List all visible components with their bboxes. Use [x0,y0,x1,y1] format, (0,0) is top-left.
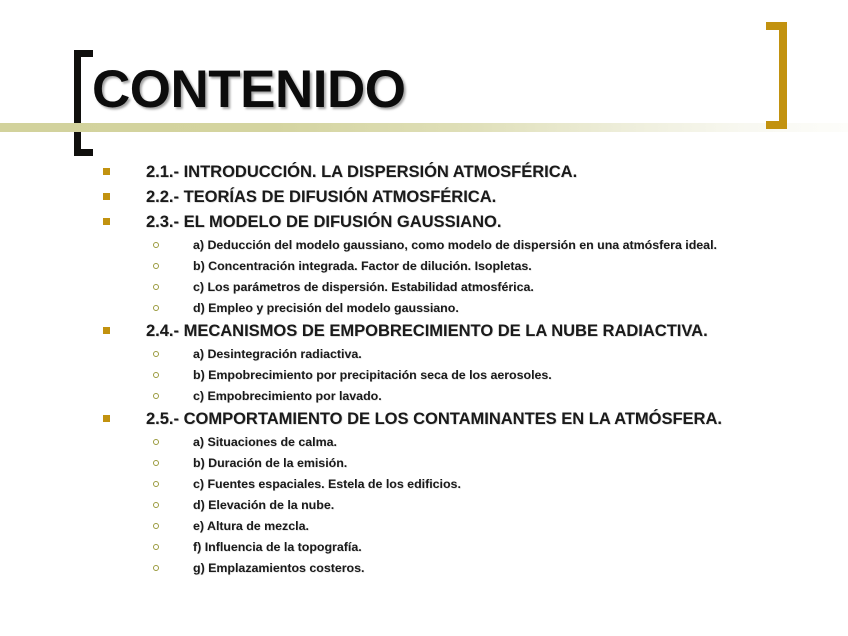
outline-item-sub: c) Empobrecimiento por lavado. [0,386,848,407]
square-bullet-icon [103,218,110,225]
slide-title-zone: CONTENIDO [0,0,848,160]
presentation-slide: CONTENIDO 2.1.- INTRODUCCIÓN. LA DISPERS… [0,0,848,636]
outline-item-label: d) Elevación de la nube. [153,495,334,516]
outline-item-label: b) Empobrecimiento por precipitación sec… [153,365,552,386]
outline-item-label: c) Fuentes espaciales. Estela de los edi… [153,474,461,495]
circle-bullet-icon [153,544,159,550]
circle-bullet-icon [153,372,159,378]
circle-bullet-icon [153,565,159,571]
outline-item-main: 2.1.- INTRODUCCIÓN. LA DISPERSIÓN ATMOSF… [0,160,848,185]
circle-bullet-icon [153,523,159,529]
outline-item-main: 2.4.- MECANISMOS DE EMPOBRECIMIENTO DE L… [0,319,848,344]
circle-bullet-icon [153,242,159,248]
outline-item-sub: f) Influencia de la topografía. [0,537,848,558]
outline-item-sub: c) Los parámetros de dispersión. Estabil… [0,277,848,298]
square-bullet-icon [103,327,110,334]
circle-bullet-icon [153,502,159,508]
outline-item-label: c) Los parámetros de dispersión. Estabil… [153,277,534,298]
outline-item-label: 2.2.- TEORÍAS DE DIFUSIÓN ATMOSFÉRICA. [103,185,496,210]
circle-bullet-icon [153,439,159,445]
circle-bullet-icon [153,460,159,466]
outline-item-label: 2.4.- MECANISMOS DE EMPOBRECIMIENTO DE L… [103,319,708,344]
outline-item-sub: d) Empleo y precisión del modelo gaussia… [0,298,848,319]
outline-item-label: a) Situaciones de calma. [153,432,337,453]
outline-item-sub: b) Duración de la emisión. [0,453,848,474]
outline-item-sub: e) Altura de mezcla. [0,516,848,537]
circle-bullet-icon [153,263,159,269]
outline-item-label: d) Empleo y precisión del modelo gaussia… [153,298,459,319]
circle-bullet-icon [153,351,159,357]
outline-item-label: f) Influencia de la topografía. [153,537,362,558]
square-bullet-icon [103,415,110,422]
left-bracket-decoration [74,50,93,156]
outline-item-main: 2.3.- EL MODELO DE DIFUSIÓN GAUSSIANO. [0,210,848,235]
page-title: CONTENIDO [92,58,406,122]
outline-item-label: 2.1.- INTRODUCCIÓN. LA DISPERSIÓN ATMOSF… [103,160,577,185]
outline-item-sub: a) Deducción del modelo gaussiano, como … [0,235,848,256]
outline-item-sub: d) Elevación de la nube. [0,495,848,516]
outline-item-label: e) Altura de mezcla. [153,516,309,537]
outline-item-sub: g) Emplazamientos costeros. [0,558,848,579]
outline-item-main: 2.2.- TEORÍAS DE DIFUSIÓN ATMOSFÉRICA. [0,185,848,210]
outline-item-sub: a) Situaciones de calma. [0,432,848,453]
circle-bullet-icon [153,393,159,399]
outline-item-label: b) Concentración integrada. Factor de di… [153,256,532,277]
outline-item-label: c) Empobrecimiento por lavado. [153,386,382,407]
square-bullet-icon [103,193,110,200]
outline-item-sub: b) Concentración integrada. Factor de di… [0,256,848,277]
outline-item-label: a) Deducción del modelo gaussiano, como … [153,235,717,256]
outline-item-sub: b) Empobrecimiento por precipitación sec… [0,365,848,386]
right-bracket-decoration [766,22,787,129]
circle-bullet-icon [153,481,159,487]
outline-item-label: 2.3.- EL MODELO DE DIFUSIÓN GAUSSIANO. [103,210,501,235]
outline-item-label: 2.5.- COMPORTAMIENTO DE LOS CONTAMINANTE… [103,407,722,432]
square-bullet-icon [103,168,110,175]
outline-item-main: 2.5.- COMPORTAMIENTO DE LOS CONTAMINANTE… [0,407,848,432]
contents-outline-list: 2.1.- INTRODUCCIÓN. LA DISPERSIÓN ATMOSF… [0,160,848,579]
outline-item-label: b) Duración de la emisión. [153,453,347,474]
circle-bullet-icon [153,305,159,311]
outline-item-sub: a) Desintegración radiactiva. [0,344,848,365]
circle-bullet-icon [153,284,159,290]
outline-item-label: g) Emplazamientos costeros. [153,558,364,579]
outline-item-sub: c) Fuentes espaciales. Estela de los edi… [0,474,848,495]
accent-band-divider [0,123,848,132]
outline-item-label: a) Desintegración radiactiva. [153,344,362,365]
